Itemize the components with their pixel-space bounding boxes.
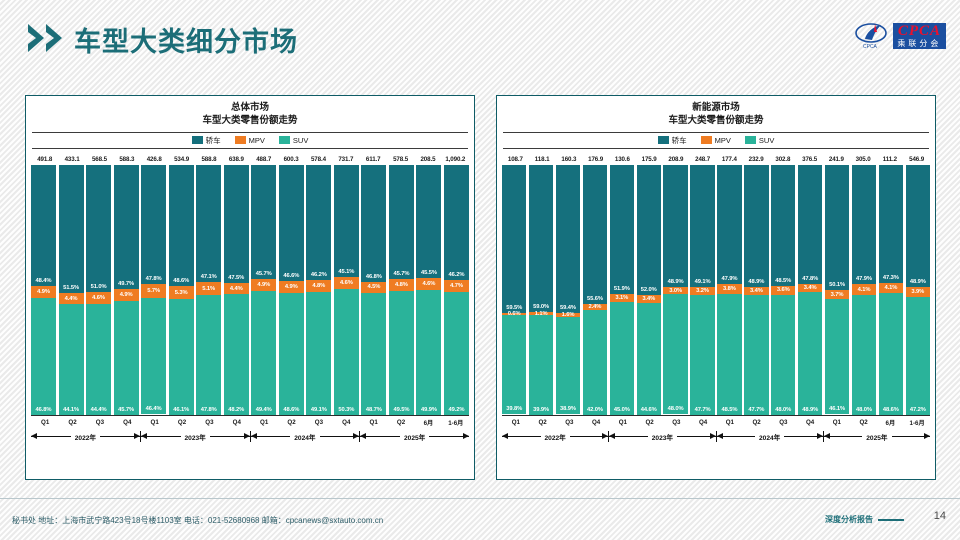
bar-segment-mpv[interactable]: 3.4% <box>637 295 661 304</box>
axis-tick-label: 6月 <box>877 418 904 427</box>
bar-column[interactable]: 51.9%3.1%45.0% <box>610 165 634 415</box>
bar-segment-mpv[interactable]: 5.3% <box>169 286 194 299</box>
bar-column[interactable]: 47.3%4.1%48.6% <box>879 165 903 415</box>
bar-segment-label: 45.1% <box>334 269 359 275</box>
bar-column[interactable]: 51.5%4.4%44.1% <box>59 165 84 415</box>
bar-segment-suv[interactable]: 44.6% <box>637 303 661 415</box>
year-label: 2023年 <box>183 432 208 442</box>
bar-segment-suv[interactable]: 45.0% <box>610 302 634 415</box>
bar-segment-car[interactable]: 59.0% <box>529 165 553 313</box>
total-value: 426.8 <box>141 156 168 163</box>
bar-segment-suv[interactable]: 48.2% <box>224 294 249 414</box>
legend-label-mpv: MPV <box>715 136 731 145</box>
bar-segment-car[interactable]: 45.5% <box>416 165 441 279</box>
bar-segment-suv[interactable]: 46.1% <box>169 299 194 414</box>
bar-column[interactable]: 45.5%4.6%49.9% <box>416 165 441 415</box>
legend-item-suv[interactable]: SUV <box>745 136 774 145</box>
bar-segment-label: 50.1% <box>825 282 849 288</box>
axis-tick-label: Q1 <box>360 419 387 426</box>
bar-segment-label: 4.9% <box>251 282 276 288</box>
bar-segment-suv[interactable]: 46.4% <box>141 298 166 414</box>
bar-column[interactable]: 59.0%1.1%39.9% <box>529 165 553 415</box>
bar-segment-suv[interactable]: 39.8% <box>502 315 526 415</box>
bar-segment-label: 3.1% <box>610 295 634 301</box>
bar-segment-car[interactable]: 47.9% <box>717 165 741 285</box>
bar-segment-car[interactable]: 47.1% <box>196 165 221 283</box>
axis-tick-label: Q4 <box>332 419 359 426</box>
bar-column[interactable]: 48.4%4.9%46.8% <box>31 165 56 415</box>
bar-segment-label: 48.9% <box>744 279 768 285</box>
arrow-left-icon <box>360 436 400 437</box>
bar-segment-suv[interactable]: 48.0% <box>852 295 876 415</box>
bar-segment-mpv[interactable]: 4.1% <box>852 284 876 294</box>
axis-tick-label: Q3 <box>770 419 797 426</box>
total-value: 588.8 <box>195 156 222 163</box>
axis-tick-label: Q3 <box>195 419 222 426</box>
bar-segment-label: 48.0% <box>771 407 795 413</box>
stacked-bars: 48.4%4.9%46.8%51.5%4.4%44.1%51.0%4.6%44.… <box>26 163 474 415</box>
bar-column[interactable]: 48.5%3.6%48.0% <box>771 165 795 415</box>
total-value: 488.7 <box>250 156 277 163</box>
year-group: 2025年 <box>824 432 930 442</box>
bar-segment-mpv[interactable]: 3.8% <box>717 284 741 293</box>
bar-segment-mpv[interactable]: 3.2% <box>690 287 714 295</box>
bar-segment-label: 3.7% <box>825 292 849 298</box>
axis-tick-label: Q4 <box>689 419 716 426</box>
bar-column[interactable]: 45.1%4.6%50.3% <box>334 165 359 415</box>
total-value: 241.9 <box>823 156 850 163</box>
bar-segment-mpv[interactable]: 4.9% <box>31 286 56 298</box>
year-label: 2022年 <box>73 432 98 442</box>
arrow-right-icon <box>784 436 823 437</box>
bar-column[interactable]: 50.1%3.7%46.1% <box>825 165 849 415</box>
axis-tick-label: Q1 <box>609 419 636 426</box>
bar-segment-label: 45.7% <box>251 271 276 277</box>
bar-segment-mpv[interactable]: 5.1% <box>196 282 221 295</box>
axis-tick-label: Q2 <box>58 419 85 426</box>
bar-segment-label: 3.4% <box>637 296 661 302</box>
arrow-right-icon <box>892 436 931 437</box>
bar-segment-mpv[interactable]: 4.9% <box>279 281 304 293</box>
bar-column[interactable]: 46.8%4.5%48.7% <box>361 165 386 415</box>
bar-column[interactable]: 48.9%3.0%48.0% <box>663 165 687 415</box>
cpca-logo-icon: CPCA <box>855 22 889 50</box>
bar-segment-label: 49.1% <box>306 407 331 413</box>
total-value: 305.0 <box>850 156 877 163</box>
arrow-right-icon <box>210 436 250 437</box>
bar-segment-label: 46.2% <box>444 272 469 278</box>
bar-segment-mpv[interactable]: 4.4% <box>224 283 249 294</box>
bar-segment-label: 59.4% <box>556 305 580 311</box>
bar-segment-mpv[interactable]: 4.9% <box>114 289 139 301</box>
bar-segment-suv[interactable]: 48.9% <box>798 292 822 414</box>
total-value: 491.8 <box>31 156 58 163</box>
panel-title-line1: 总体市场 <box>26 102 474 115</box>
bar-segment-label: 48.5% <box>717 407 741 413</box>
bar-segment-mpv[interactable]: 3.6% <box>771 286 795 295</box>
bar-segment-label: 3.4% <box>744 288 768 294</box>
total-value: 177.4 <box>716 156 743 163</box>
bar-segment-mpv[interactable]: 4.1% <box>879 283 903 293</box>
bar-segment-car[interactable]: 47.9% <box>852 165 876 285</box>
totals-row: 108.7118.1160.3176.9130.6175.9208.9248.7… <box>497 149 935 163</box>
legend-swatch-mpv <box>701 136 712 144</box>
bar-segment-car[interactable]: 55.6% <box>583 165 607 304</box>
bar-segment-car[interactable]: 51.5% <box>59 165 84 294</box>
bar-segment-label: 47.8% <box>141 276 166 282</box>
legend-swatch-car <box>658 136 669 144</box>
bar-segment-label: 4.7% <box>444 283 469 289</box>
bar-column[interactable]: 49.7%4.9%45.7% <box>114 165 139 415</box>
year-group: 2022年 <box>31 432 140 442</box>
chart-legend: 轿车 MPV SUV <box>497 133 935 148</box>
bar-segment-label: 49.9% <box>416 407 441 413</box>
bar-column[interactable]: 47.8%3.4%48.9% <box>798 165 822 415</box>
year-group: 2025年 <box>360 432 469 442</box>
footer-tagline: 深度分析报告 <box>825 514 904 525</box>
total-value: 208.5 <box>414 156 441 163</box>
bar-segment-label: 46.6% <box>279 273 304 279</box>
axis-tick-label: Q2 <box>743 419 770 426</box>
legend-swatch-mpv <box>235 136 246 144</box>
panel-title: 新能源市场 车型大类零售份额走势 <box>497 96 935 128</box>
bar-segment-label: 49.2% <box>444 407 469 413</box>
legend-label-suv: SUV <box>759 136 774 145</box>
arrow-left-icon <box>824 436 863 437</box>
legend-item-car[interactable]: 轿车 <box>658 135 687 146</box>
bar-segment-car[interactable]: 47.8% <box>141 165 166 285</box>
bar-segment-label: 44.4% <box>86 407 111 413</box>
axis-tick-label: 1-6月 <box>442 418 469 427</box>
axis-tick-label: Q4 <box>113 419 140 426</box>
bar-segment-mpv[interactable]: 4.5% <box>361 282 386 293</box>
total-value: 731.7 <box>332 156 359 163</box>
total-value: 175.9 <box>636 156 663 163</box>
bar-column[interactable]: 47.1%5.1%47.8% <box>196 165 221 415</box>
bar-segment-car[interactable]: 46.6% <box>279 165 304 281</box>
bar-segment-mpv[interactable]: 4.6% <box>334 277 359 289</box>
bar-segment-car[interactable]: 47.8% <box>798 165 822 284</box>
axis-year-groups: 2022年2023年2024年2025年 <box>502 429 930 445</box>
slide-header: 车型大类细分市场 CPCA CPCA 乘联分会 <box>0 0 960 72</box>
bar-column[interactable]: 45.7%4.8%49.5% <box>389 165 414 415</box>
axis-tick-label: Q1 <box>141 419 168 426</box>
footer-contact: 秘书处 地址：上海市武宁路423号18号楼1103室 电话：021-526809… <box>12 515 383 526</box>
bar-segment-suv[interactable]: 47.7% <box>690 295 714 414</box>
axis-tick-label: Q4 <box>223 419 250 426</box>
axis-tick-label: Q1 <box>31 419 58 426</box>
bar-segment-suv[interactable]: 39.9% <box>529 315 553 415</box>
bar-segment-label: 39.9% <box>529 407 553 413</box>
bar-segment-label: 47.5% <box>224 275 249 281</box>
bar-segment-suv[interactable]: 48.6% <box>279 293 304 414</box>
bar-segment-suv[interactable]: 49.5% <box>389 291 414 415</box>
bar-segment-suv[interactable]: 47.2% <box>906 297 930 415</box>
bar-column[interactable]: 48.9%3.9%47.2% <box>906 165 930 415</box>
bar-column[interactable]: 47.9%3.8%48.5% <box>717 165 741 415</box>
bar-segment-label: 45.7% <box>389 271 414 277</box>
bar-segment-mpv[interactable]: 4.9% <box>251 279 276 291</box>
bar-segment-car[interactable]: 45.7% <box>389 165 414 279</box>
total-value: 578.4 <box>305 156 332 163</box>
total-value: 546.9 <box>903 156 930 163</box>
total-value: 638.9 <box>223 156 250 163</box>
total-value: 433.1 <box>58 156 85 163</box>
bar-segment-label: 48.4% <box>31 278 56 284</box>
bar-column[interactable]: 47.5%4.4%48.2% <box>224 165 249 415</box>
bar-segment-label: 46.8% <box>361 274 386 280</box>
bar-segment-suv[interactable]: 48.0% <box>663 294 687 414</box>
axis-tick-label: Q2 <box>277 419 304 426</box>
bar-segment-label: 47.1% <box>196 274 221 280</box>
total-value: 302.8 <box>770 156 797 163</box>
bar-segment-label: 52.0% <box>637 287 661 293</box>
total-value: 108.7 <box>502 156 529 163</box>
bar-segment-label: 5.3% <box>169 290 194 296</box>
bar-segment-car[interactable]: 48.4% <box>31 165 56 286</box>
axis-tick-label: Q2 <box>636 419 663 426</box>
total-value: 118.1 <box>529 156 556 163</box>
bar-segment-label: 48.0% <box>852 407 876 413</box>
bar-segment-suv[interactable]: 44.4% <box>86 304 111 415</box>
legend-label-car: 轿车 <box>206 135 221 146</box>
year-label: 2023年 <box>650 432 675 442</box>
bar-segment-car[interactable]: 48.9% <box>663 165 687 287</box>
arrow-left-icon <box>31 436 71 437</box>
panel-title-line2: 车型大类零售份额走势 <box>26 115 474 128</box>
bar-column[interactable]: 46.2%4.8%49.1% <box>306 165 331 415</box>
bar-column[interactable]: 52.0%3.4%44.6% <box>637 165 661 415</box>
logo-subtitle: 乘联分会 <box>893 39 946 49</box>
bar-segment-label: 49.1% <box>690 279 714 285</box>
bar-segment-mpv[interactable]: 3.0% <box>663 287 687 295</box>
bar-column[interactable]: 59.5%0.6%39.8% <box>502 165 526 415</box>
bar-segment-car[interactable]: 49.1% <box>690 165 714 288</box>
arrow-left-icon <box>141 436 181 437</box>
bar-segment-car[interactable]: 48.6% <box>169 165 194 287</box>
axis-tick-label: Q1 <box>716 419 743 426</box>
bar-segment-label: 38.9% <box>556 406 580 412</box>
arrow-right-icon <box>100 436 140 437</box>
bar-segment-car[interactable]: 47.3% <box>879 165 903 283</box>
tagline-rule-icon <box>878 519 904 521</box>
axis-tick-label: Q2 <box>168 419 195 426</box>
bar-segment-label: 45.5% <box>416 270 441 276</box>
total-value: 248.7 <box>689 156 716 163</box>
bar-segment-car[interactable]: 59.5% <box>502 165 526 314</box>
bar-segment-label: 48.7% <box>361 407 386 413</box>
total-value: 534.9 <box>168 156 195 163</box>
bar-segment-label: 55.6% <box>583 296 607 302</box>
bar-segment-label: 4.5% <box>361 284 386 290</box>
bar-segment-suv[interactable]: 48.5% <box>717 294 741 415</box>
bar-segment-label: 47.3% <box>879 275 903 281</box>
year-label: 2024年 <box>292 432 317 442</box>
bar-segment-suv[interactable]: 46.1% <box>825 299 849 414</box>
bar-segment-label: 47.8% <box>196 407 221 413</box>
total-value: 1,090.2 <box>442 156 469 163</box>
bar-segment-car[interactable]: 48.5% <box>771 165 795 286</box>
total-value: 208.9 <box>663 156 690 163</box>
bar-segment-suv[interactable]: 48.6% <box>879 293 903 415</box>
bar-column[interactable]: 46.2%4.7%49.2% <box>444 165 469 415</box>
axis-quarter-labels: Q1Q2Q3Q4Q1Q2Q3Q4Q1Q2Q3Q4Q1Q26月1-6月 <box>502 416 930 429</box>
axis-tick-label: Q3 <box>663 419 690 426</box>
bar-segment-car[interactable]: 50.1% <box>825 165 849 290</box>
axis-tick-label: Q3 <box>86 419 113 426</box>
bar-segment-suv[interactable]: 49.9% <box>416 290 441 415</box>
arrow-right-icon <box>677 436 716 437</box>
bar-segment-car[interactable]: 47.5% <box>224 165 249 284</box>
bar-segment-suv[interactable]: 49.4% <box>251 291 276 415</box>
total-value: 232.9 <box>743 156 770 163</box>
bar-segment-label: 44.1% <box>59 407 84 413</box>
bar-segment-mpv[interactable]: 4.7% <box>444 280 469 292</box>
bar-segment-car[interactable]: 46.2% <box>306 165 331 280</box>
arrow-left-icon <box>502 436 541 437</box>
bar-segment-label: 49.7% <box>114 281 139 287</box>
bar-segment-mpv[interactable]: 3.7% <box>825 290 849 299</box>
year-group: 2023年 <box>609 432 715 442</box>
arrow-right-icon <box>429 436 469 437</box>
bar-segment-label: 4.9% <box>279 284 304 290</box>
panel-title-line2: 车型大类零售份额走势 <box>497 115 935 128</box>
total-value: 611.7 <box>360 156 387 163</box>
chart-panel-nev: 新能源市场 车型大类零售份额走势 轿车 MPV SUV 108.7118.116… <box>496 95 936 480</box>
bar-segment-car[interactable]: 45.7% <box>251 165 276 279</box>
bar-segment-car[interactable]: 51.9% <box>610 165 634 295</box>
legend-item-suv[interactable]: SUV <box>279 136 308 145</box>
bar-column[interactable]: 46.6%4.9%48.6% <box>279 165 304 415</box>
bar-segment-label: 51.9% <box>610 286 634 292</box>
svg-text:CPCA: CPCA <box>863 44 878 50</box>
legend-swatch-suv <box>745 136 756 144</box>
bar-segment-label: 49.5% <box>389 407 414 413</box>
bar-segment-label: 4.9% <box>31 289 56 295</box>
bar-segment-mpv[interactable]: 4.6% <box>86 292 111 304</box>
bar-column[interactable]: 55.6%2.4%42.0% <box>583 165 607 415</box>
total-value: 588.3 <box>113 156 140 163</box>
bar-segment-suv[interactable]: 48.7% <box>361 293 386 415</box>
bar-segment-mpv[interactable]: 4.6% <box>416 278 441 290</box>
bar-segment-car[interactable]: 51.0% <box>86 165 111 293</box>
bar-segment-mpv[interactable]: 5.7% <box>141 284 166 298</box>
bar-segment-suv[interactable]: 46.8% <box>31 298 56 415</box>
bar-segment-label: 42.0% <box>583 407 607 413</box>
bar-column[interactable]: 45.7%4.9%49.4% <box>251 165 276 415</box>
bar-column[interactable]: 48.9%3.4%47.7% <box>744 165 768 415</box>
bar-column[interactable]: 47.9%4.1%48.0% <box>852 165 876 415</box>
total-value: 600.3 <box>277 156 304 163</box>
legend-swatch-car <box>192 136 203 144</box>
total-value: 578.5 <box>387 156 414 163</box>
bar-segment-suv[interactable]: 49.2% <box>444 292 469 415</box>
bar-segment-label: 4.4% <box>59 296 84 302</box>
bar-segment-label: 48.6% <box>279 407 304 413</box>
bar-segment-label: 4.1% <box>879 285 903 291</box>
bar-segment-car[interactable]: 48.9% <box>906 165 930 287</box>
bar-segment-label: 47.9% <box>852 276 876 282</box>
bar-segment-car[interactable]: 46.2% <box>444 165 469 280</box>
bar-segment-suv[interactable]: 47.8% <box>196 295 221 415</box>
bar-segment-suv[interactable]: 50.3% <box>334 289 359 415</box>
bar-segment-car[interactable]: 49.7% <box>114 165 139 289</box>
bar-segment-label: 4.6% <box>334 280 359 286</box>
legend-item-car[interactable]: 轿车 <box>192 135 221 146</box>
bar-segment-label: 5.7% <box>141 288 166 294</box>
year-label: 2025年 <box>402 432 427 442</box>
bar-segment-suv[interactable]: 44.1% <box>59 304 84 414</box>
bar-segment-suv[interactable]: 42.0% <box>583 310 607 415</box>
axis-tick-label: Q3 <box>305 419 332 426</box>
bar-segment-label: 48.9% <box>663 279 687 285</box>
bar-segment-suv[interactable]: 38.9% <box>556 317 580 414</box>
bar-segment-mpv[interactable]: 4.4% <box>59 293 84 304</box>
bar-segment-label: 48.5% <box>771 278 795 284</box>
bar-segment-mpv[interactable]: 4.8% <box>389 279 414 291</box>
axis-year-groups: 2022年2023年2024年2025年 <box>31 429 469 445</box>
bar-segment-car[interactable]: 59.4% <box>556 165 580 314</box>
axis-tick-label: Q4 <box>796 419 823 426</box>
bar-segment-suv[interactable]: 49.1% <box>306 292 331 415</box>
bar-segment-label: 3.4% <box>798 285 822 291</box>
bar-segment-car[interactable]: 46.8% <box>361 165 386 282</box>
legend-item-mpv[interactable]: MPV <box>235 136 265 145</box>
bar-segment-car[interactable]: 45.1% <box>334 165 359 278</box>
totals-row: 491.8433.1568.5588.3426.8534.9588.8638.9… <box>26 149 474 163</box>
bar-segment-suv[interactable]: 45.7% <box>114 301 139 415</box>
bar-segment-label: 46.8% <box>31 407 56 413</box>
axis-tick-label: 1-6月 <box>903 418 930 427</box>
bar-column[interactable]: 49.1%3.2%47.7% <box>690 165 714 415</box>
bar-segment-car[interactable]: 48.9% <box>744 165 768 287</box>
bar-segment-label: 4.4% <box>224 286 249 292</box>
bar-segment-mpv[interactable]: 3.4% <box>798 284 822 292</box>
bar-segment-label: 50.3% <box>334 407 359 413</box>
chart-panel-overall: 总体市场 车型大类零售份额走势 轿车 MPV SUV 491.8433.1568… <box>25 95 475 480</box>
total-value: 176.9 <box>582 156 609 163</box>
bar-segment-mpv[interactable]: 3.4% <box>744 287 768 296</box>
total-value: 376.5 <box>796 156 823 163</box>
axis-tick-label: 6月 <box>414 418 441 427</box>
bar-segment-label: 4.9% <box>114 292 139 298</box>
logo-name: CPCA <box>893 23 946 39</box>
bar-segment-mpv[interactable]: 3.1% <box>610 294 634 302</box>
bar-segment-mpv[interactable]: 4.8% <box>306 280 331 292</box>
bar-segment-label: 3.2% <box>690 288 714 294</box>
bar-segment-label: 46.4% <box>141 406 166 412</box>
bar-segment-label: 49.4% <box>251 407 276 413</box>
arrow-left-icon <box>717 436 756 437</box>
bar-column[interactable]: 51.0%4.6%44.4% <box>86 165 111 415</box>
bar-segment-car[interactable]: 52.0% <box>637 165 661 295</box>
total-value: 568.5 <box>86 156 113 163</box>
bar-column[interactable]: 59.4%1.6%38.9% <box>556 165 580 415</box>
bar-segment-mpv[interactable]: 3.9% <box>906 287 930 297</box>
legend-label-mpv: MPV <box>249 136 265 145</box>
bar-segment-suv[interactable]: 48.0% <box>771 295 795 415</box>
footer-divider <box>0 498 960 499</box>
bar-segment-label: 47.7% <box>690 407 714 413</box>
bar-column[interactable]: 47.8%5.7%46.4% <box>141 165 166 415</box>
panel-title: 总体市场 车型大类零售份额走势 <box>26 96 474 128</box>
bar-segment-suv[interactable]: 47.7% <box>744 295 768 414</box>
legend-label-car: 轿车 <box>672 135 687 146</box>
legend-item-mpv[interactable]: MPV <box>701 136 731 145</box>
bar-column[interactable]: 48.6%5.3%46.1% <box>169 165 194 415</box>
bar-segment-label: 48.6% <box>169 278 194 284</box>
year-label: 2022年 <box>543 432 568 442</box>
